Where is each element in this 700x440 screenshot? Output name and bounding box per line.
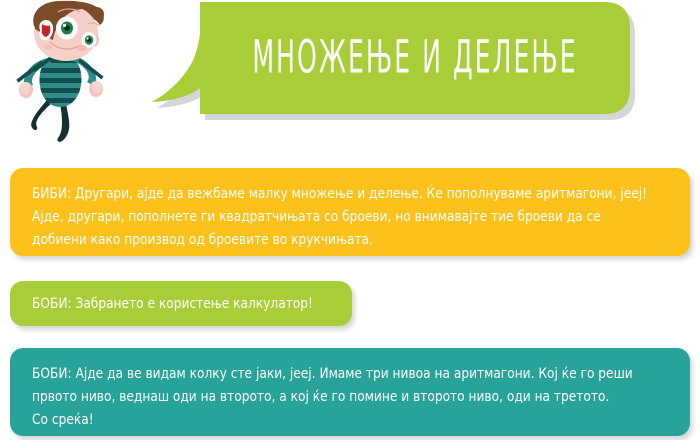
dialogue-block-bobi-warning: БОБИ: Забрането е користење калкулатор! <box>10 281 352 326</box>
dialogue-line: БОБИ: Ајде да ве видам колку сте јаки, ј… <box>32 362 668 385</box>
dialogue-line: БОБИ: Забрането е користење калкулатор! <box>32 292 330 315</box>
dialogue-line: добиени како производ од броевите во кру… <box>32 228 668 251</box>
dialogue-line: Ајде, другари, пополнете ги квадратчињат… <box>32 205 668 228</box>
mascot-svg <box>4 0 124 145</box>
dialogue-line: Со среќа! <box>32 408 668 431</box>
page-title: Множење и делење <box>243 0 587 131</box>
dialogue-block-bobi-levels: БОБИ: Ајде да ве видам колку сте јаки, ј… <box>10 348 690 436</box>
dialogue-line: БИБИ: Другари, ајде да вежбаме малку мно… <box>32 182 668 205</box>
dialogue-block-bibi-intro: БИБИ: Другари, ајде да вежбаме малку мно… <box>10 168 690 256</box>
title-speech-bubble: Множење и делење <box>152 2 636 124</box>
dialogue-line: првото ниво, веднаш оди на второто, а ко… <box>32 385 668 408</box>
mascot-illustration <box>4 0 124 145</box>
